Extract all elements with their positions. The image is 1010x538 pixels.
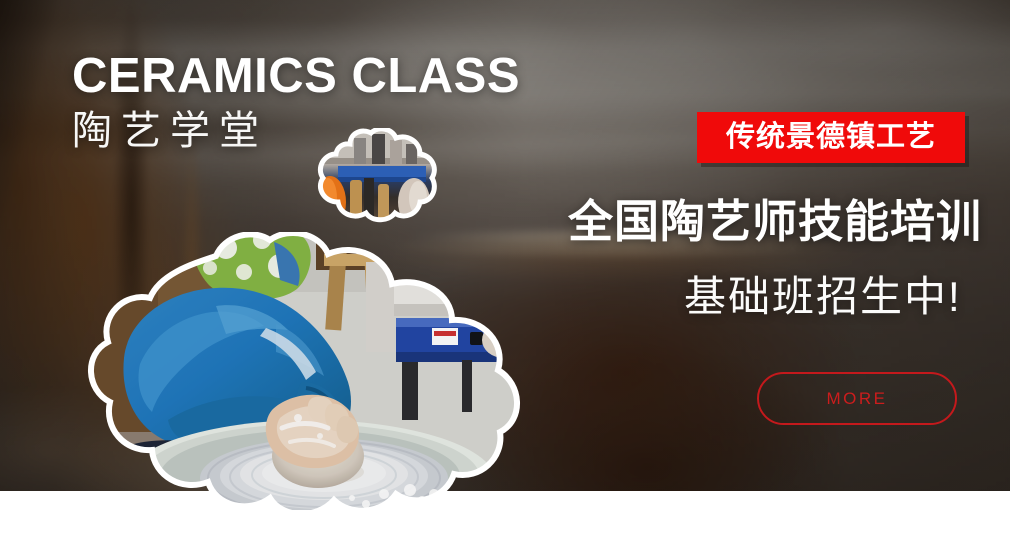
promo-headline: 全国陶艺师技能培训 (568, 199, 982, 244)
main-photo-cloud (66, 232, 536, 510)
tradition-badge-label: 传统景德镇工艺 (726, 123, 936, 152)
title-chinese: 陶艺学堂 (72, 109, 520, 154)
more-button[interactable]: MORE (757, 372, 957, 425)
ceramics-class-banner: CERAMICS CLASS 陶艺学堂 (0, 0, 1010, 538)
title-block: CERAMICS CLASS 陶艺学堂 (72, 52, 520, 154)
main-photo-image (66, 232, 536, 510)
tradition-badge: 传统景德镇工艺 (697, 112, 965, 163)
more-button-label: MORE (827, 390, 888, 407)
title-english: CERAMICS CLASS (72, 52, 520, 102)
pottery-tools-thumbnail (310, 128, 442, 224)
pottery-tools-image (310, 128, 442, 224)
promo-subline: 基础班招生中! (684, 276, 962, 318)
